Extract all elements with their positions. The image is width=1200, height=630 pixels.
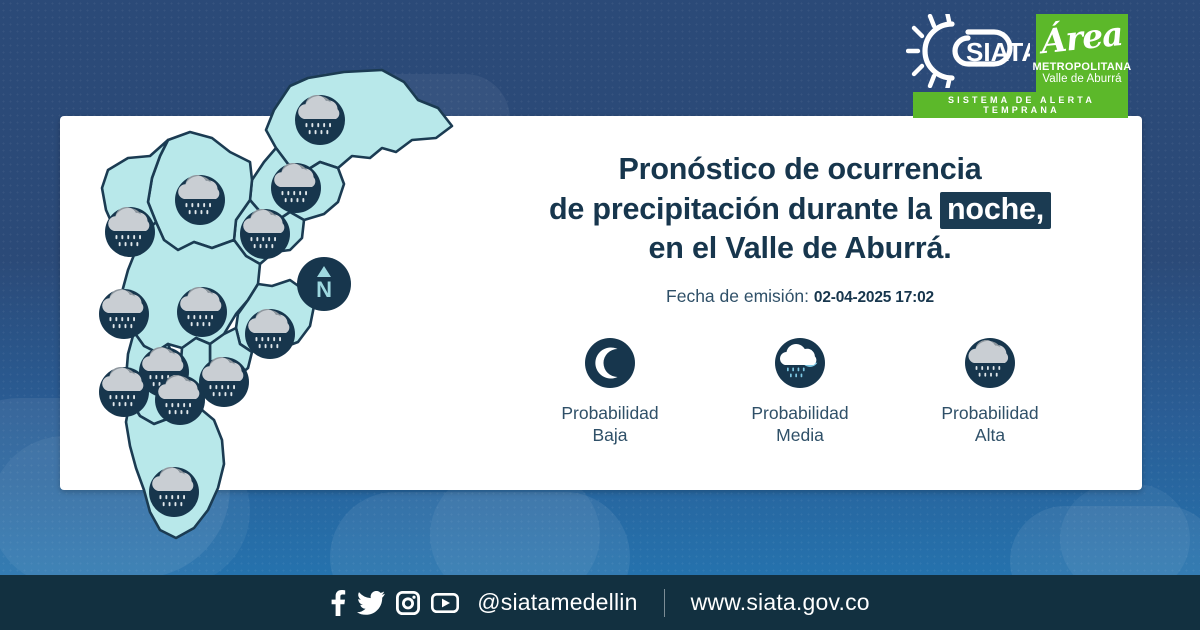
social-handle[interactable]: @siatamedellin (477, 589, 637, 616)
marker-medellin-w[interactable] (99, 289, 149, 339)
marker-san-pedro[interactable] (105, 207, 155, 257)
emission-date: Fecha de emisión: 02-04-2025 17:02 (470, 286, 1130, 307)
headline-line-1: Pronóstico de ocurrencia (619, 152, 982, 186)
marker-sabaneta[interactable] (199, 357, 249, 407)
marker-caldas[interactable] (149, 467, 199, 517)
social-links (330, 590, 459, 616)
twitter-icon[interactable] (357, 591, 385, 615)
marker-la-estrella[interactable] (99, 367, 149, 417)
facebook-icon[interactable] (330, 590, 346, 616)
marker-bello[interactable] (175, 175, 225, 225)
emission-date-label: Fecha de emisión: (666, 286, 809, 306)
headline-line-2: de precipitación durante la (549, 192, 932, 226)
compass-label: N (316, 277, 332, 302)
website-url[interactable]: www.siata.gov.co (691, 589, 870, 616)
marker-envigado[interactable] (245, 309, 295, 359)
logo-group: SIATA Área METROPOLITANA Valle de Aburrá (906, 14, 1128, 92)
valle-de-aburra-map: N (52, 52, 522, 572)
headline-highlight-noche: noche, (940, 192, 1051, 230)
legend-baja-line1: Probabilidad (561, 403, 658, 423)
municipio-barbosa (266, 70, 452, 172)
siata-wordmark: SIATA (966, 37, 1030, 67)
marker-copacabana[interactable] (240, 209, 290, 259)
legend-label-media: Probabilidad Media (751, 402, 848, 447)
forecast-panel: Pronóstico de ocurrencia de precipitació… (470, 150, 1130, 447)
legend-item-alta: Probabilidad Alta (895, 337, 1085, 447)
headline-line-3: en el Valle de Aburrá. (649, 231, 952, 265)
emission-date-value: 02-04-2025 17:02 (814, 289, 934, 306)
legend-alta-line2: Alta (975, 425, 1005, 445)
legend-baja-line2: Baja (592, 425, 627, 445)
area-metropolitana-logo: Área METROPOLITANA Valle de Aburrá (1036, 14, 1128, 92)
instagram-icon[interactable] (396, 591, 420, 615)
probability-legend: Probabilidad Baja Proba (470, 337, 1130, 447)
legend-item-baja: Probabilidad Baja (515, 337, 705, 447)
marker-girardota[interactable] (271, 163, 321, 213)
legend-item-media: Probabilidad Media (705, 337, 895, 447)
moon-icon (584, 337, 636, 389)
footer-divider (664, 589, 665, 617)
cloud-moon-rain-icon (774, 337, 826, 389)
footer-bar: @siatamedellin www.siata.gov.co (0, 575, 1200, 630)
area-script-text: Área (1040, 17, 1124, 58)
marker-medellin[interactable] (177, 287, 227, 337)
siata-tagline-banner: SISTEMA DE ALERTA TEMPRANA (913, 92, 1128, 118)
marker-barbosa[interactable] (295, 95, 345, 145)
siata-logo: SIATA (906, 14, 1030, 88)
page-title: Pronóstico de ocurrencia de precipitació… (470, 150, 1130, 269)
legend-alta-line1: Probabilidad (941, 403, 1038, 423)
area-line2: Valle de Aburrá (1042, 73, 1121, 85)
legend-media-line2: Media (776, 425, 824, 445)
legend-label-alta: Probabilidad Alta (941, 402, 1038, 447)
legend-media-line1: Probabilidad (751, 403, 848, 423)
marker-girardota-s[interactable] (155, 375, 205, 425)
north-arrow-icon: N (297, 257, 351, 311)
area-line1: METROPOLITANA (1032, 61, 1131, 73)
youtube-icon[interactable] (431, 593, 459, 613)
cloud-rain-icon (964, 337, 1016, 389)
legend-label-baja: Probabilidad Baja (561, 402, 658, 447)
